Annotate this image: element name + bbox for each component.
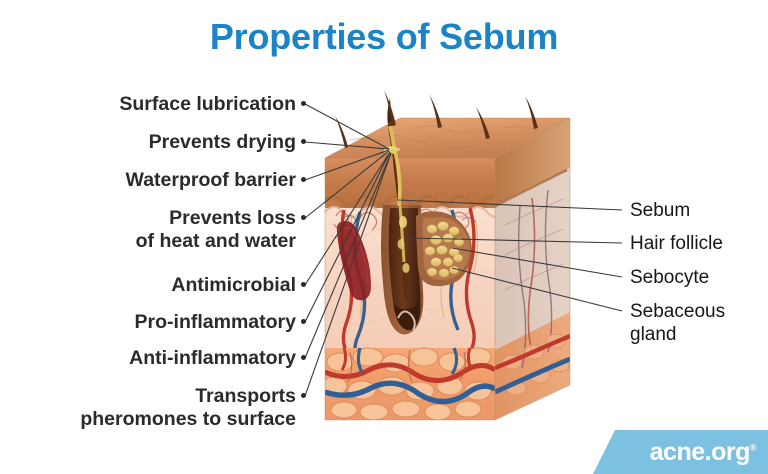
label-text: Antimicrobial	[171, 274, 296, 296]
label-antimicrobial[interactable]: Antimicrobial	[171, 274, 296, 297]
infographic-canvas: Properties of Sebum	[0, 0, 768, 474]
acne-org-logo[interactable]: acne.org®	[593, 430, 768, 474]
label-text-line2: of heat and water	[136, 230, 296, 253]
label-text: Waterproof barrier	[126, 169, 296, 191]
logo-text: acne.org®	[650, 440, 768, 465]
bullet-prevents-loss	[301, 215, 306, 220]
label-sebaceous-gland[interactable]: Sebaceous gland	[630, 300, 725, 346]
label-sebocyte[interactable]: Sebocyte	[630, 266, 709, 289]
label-text: Sebaceous	[630, 301, 725, 322]
label-surface-lubrication[interactable]: Surface lubrication	[119, 93, 296, 116]
leader-antimicrobial	[305, 152, 390, 285]
label-text-line2: pheromones to surface	[80, 408, 296, 431]
leader-prevents-drying	[305, 142, 389, 149]
leader-transports-pheromones	[305, 153, 391, 396]
bullet-antimicrobial	[301, 282, 306, 287]
label-anti-inflammatory[interactable]: Anti-inflammatory	[129, 347, 296, 370]
bullet-surface-lubrication	[301, 101, 306, 106]
label-text: Anti-inflammatory	[129, 347, 296, 369]
bullet-transports	[301, 393, 306, 398]
bullet-prevents-drying	[301, 139, 306, 144]
leader-sebaceous-gland	[452, 268, 622, 311]
leader-surface-lubrication	[305, 104, 389, 149]
label-prevents-drying[interactable]: Prevents drying	[149, 131, 296, 154]
label-text: Pro-inflammatory	[135, 311, 296, 333]
label-waterproof-barrier[interactable]: Waterproof barrier	[126, 169, 296, 192]
bullet-anti-inflammatory	[301, 355, 306, 360]
bullet-waterproof-barrier	[301, 177, 306, 182]
label-prevents-loss-of-heat-and-water[interactable]: Prevents loss of heat and water	[136, 207, 296, 253]
leader-hair-follicle	[410, 238, 622, 243]
leader-waterproof-barrier	[305, 150, 389, 180]
label-pro-inflammatory[interactable]: Pro-inflammatory	[135, 311, 296, 334]
label-sebum[interactable]: Sebum	[630, 199, 690, 222]
label-hair-follicle[interactable]: Hair follicle	[630, 232, 723, 255]
label-text: Sebum	[630, 200, 690, 221]
label-text: Sebocyte	[630, 267, 709, 288]
label-text-line2: gland	[630, 323, 725, 346]
leader-sebocyte	[452, 248, 622, 277]
label-text: Transports	[195, 385, 296, 407]
label-text: Surface lubrication	[119, 93, 296, 115]
leader-pro-inflammatory	[305, 152, 390, 322]
label-text: Prevents loss	[169, 207, 296, 229]
leader-sebum	[398, 200, 622, 210]
bullet-pro-inflammatory	[301, 319, 306, 324]
label-text: Hair follicle	[630, 233, 723, 254]
label-text: Prevents drying	[149, 131, 296, 153]
registered-trademark-icon: ®	[750, 442, 756, 452]
label-transports-pheromones-to-surface[interactable]: Transports pheromones to surface	[80, 385, 296, 431]
leader-prevents-loss	[305, 151, 389, 218]
